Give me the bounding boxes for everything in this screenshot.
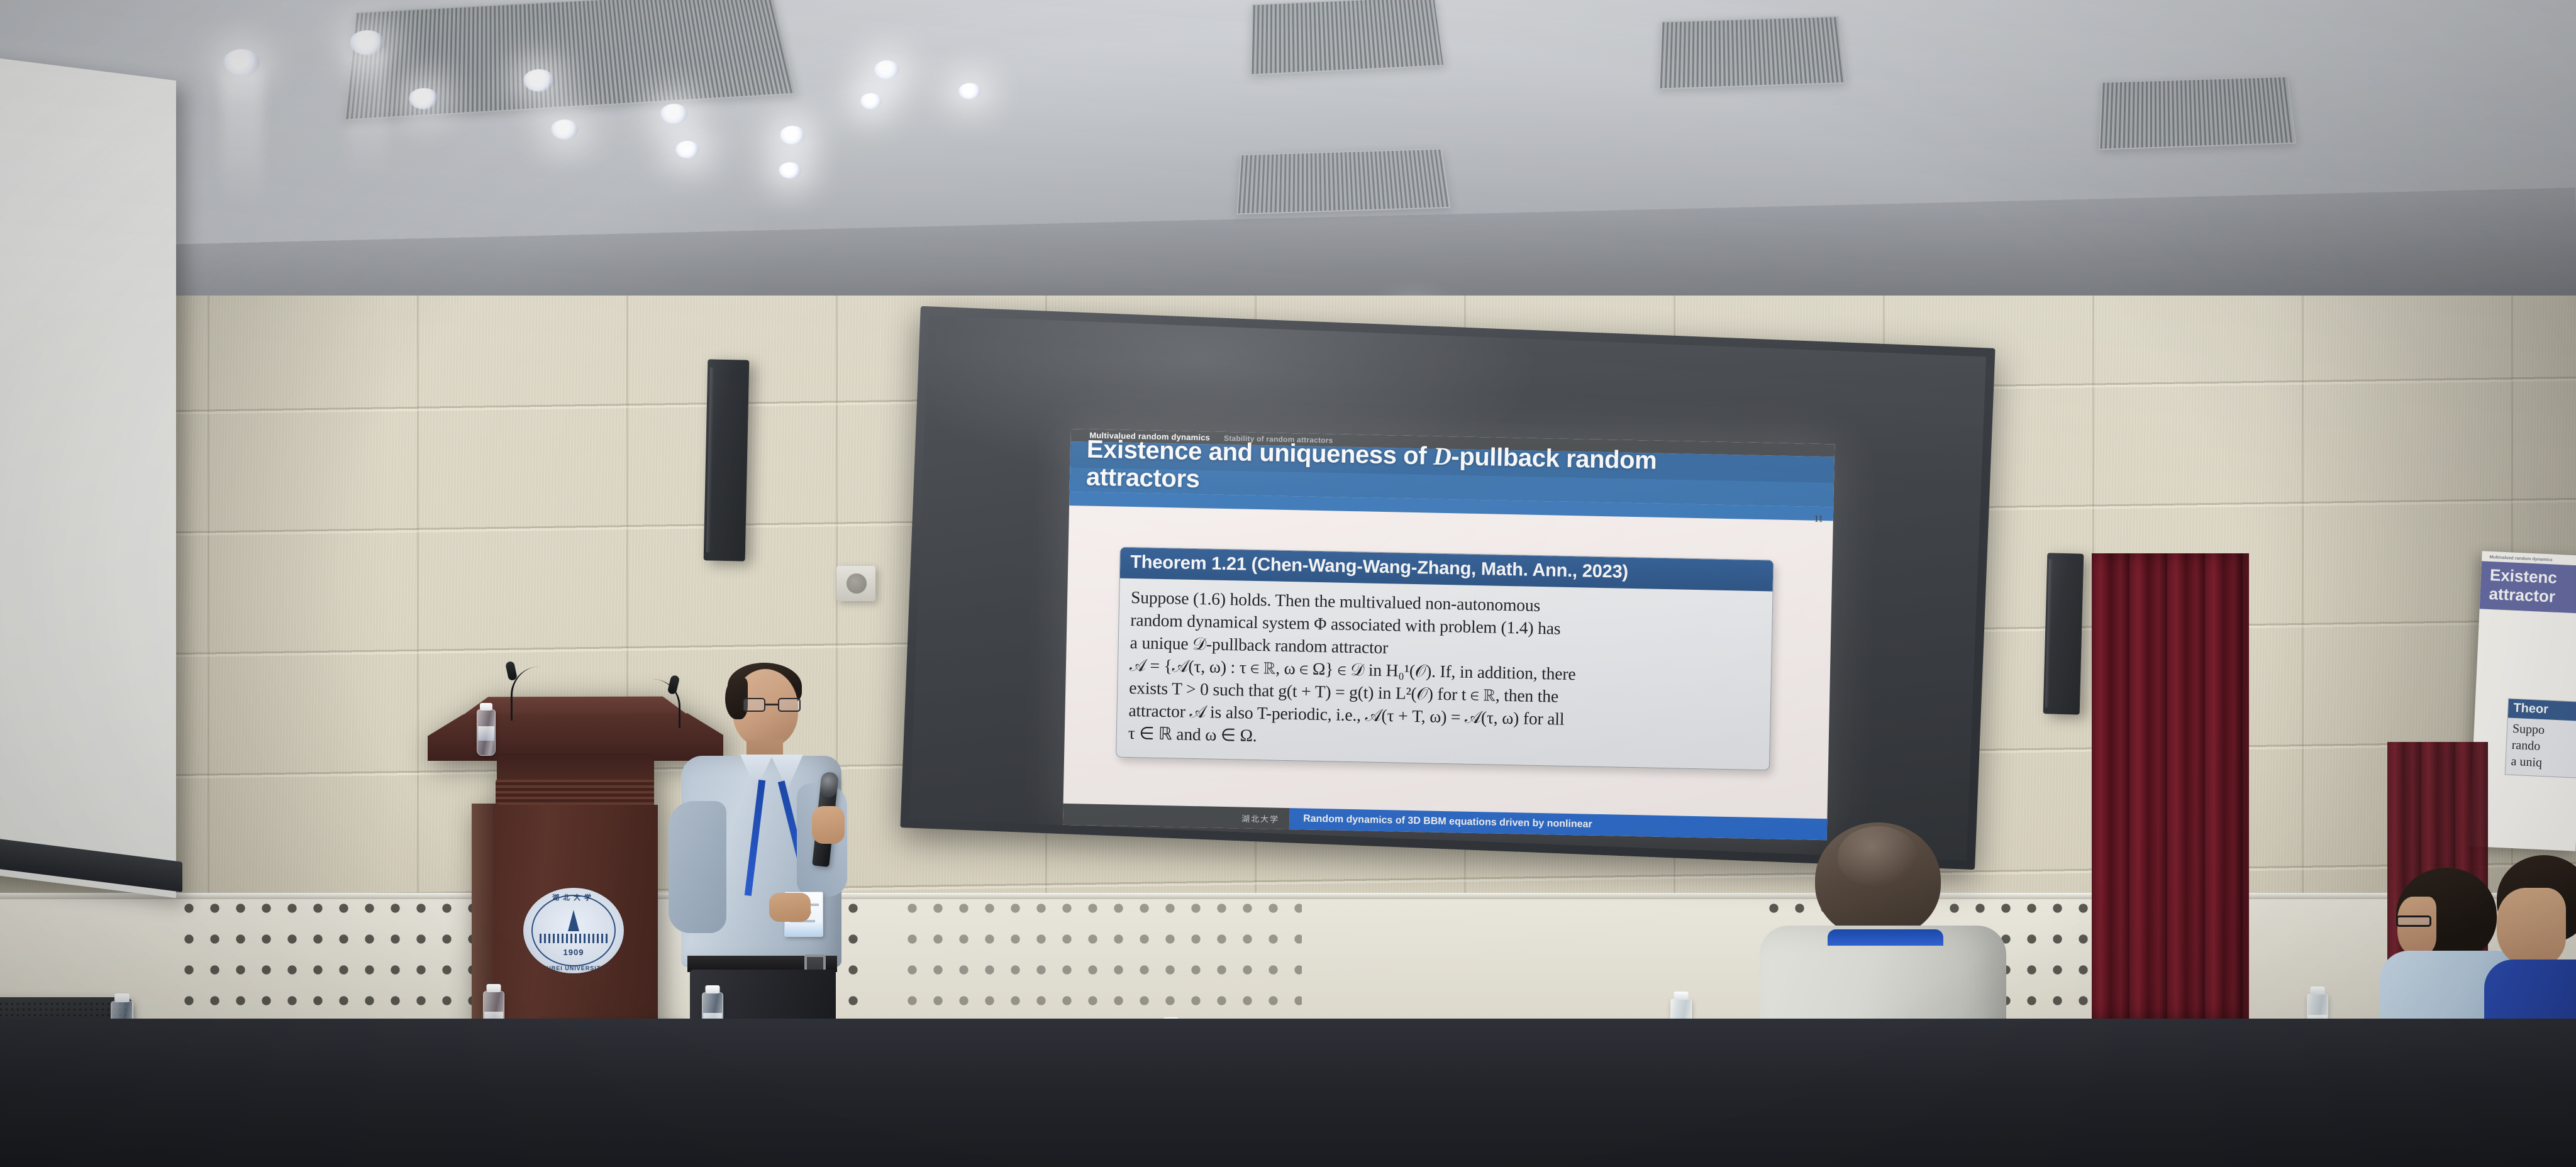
theorem-body: Suppose (1.6) holds. Then the multivalue… xyxy=(1116,578,1772,770)
university-emblem: 湖北大学 1909 HUBEI UNIVERSITY xyxy=(523,888,624,973)
column-speaker xyxy=(2043,553,2084,714)
slide-page-number: 11 xyxy=(1814,514,1823,525)
glasses-lens-right xyxy=(778,698,801,712)
bottle-cap xyxy=(1674,992,1689,1000)
emblem-tower-icon xyxy=(568,910,579,931)
projected-slide: Multivalued random dynamics Stability of… xyxy=(1063,429,1835,840)
bottle-cap xyxy=(706,985,720,993)
bottle-cap xyxy=(487,984,501,992)
ceiling-downlight xyxy=(874,60,899,79)
wall-speaker xyxy=(836,566,875,601)
emblem-english-name: HUBEI UNIVERSITY xyxy=(523,965,624,971)
secondary-theorem-box: Theor Suppo rando a uniq xyxy=(2505,699,2576,780)
bottle-cap xyxy=(114,993,130,1002)
secondary-slide-title: Existenc attractor xyxy=(2480,561,2576,614)
presenter xyxy=(663,660,865,1075)
secondary-title-line2: attractor xyxy=(2489,584,2556,606)
water-bottle xyxy=(477,709,496,756)
bottle-label xyxy=(478,726,494,741)
presenter-hand-right xyxy=(812,806,845,844)
lecture-hall-photo: Multivalued random dynamics Stability of… xyxy=(0,0,2576,1167)
hvac-vent xyxy=(2099,76,2296,150)
slide-title-part2: attractors xyxy=(1086,463,1200,494)
ceiling-downlight xyxy=(780,126,805,145)
screen-glare xyxy=(0,55,176,898)
audience-face xyxy=(2497,888,2566,966)
glasses-icon xyxy=(743,698,801,712)
secondary-title-line1: Existenc xyxy=(2489,565,2557,587)
secondary-theorem-line: a uniq xyxy=(2511,753,2576,775)
presenter-arm-left xyxy=(669,801,726,933)
script-d-symbol: D xyxy=(1433,442,1452,471)
ceiling-downlight xyxy=(409,88,439,109)
glasses-lens-left xyxy=(743,698,765,712)
ceiling-downlight xyxy=(675,141,699,158)
main-projection-screen: Multivalued random dynamics Stability of… xyxy=(900,306,1995,870)
hvac-vent xyxy=(1236,148,1450,214)
secondary-theorem-body: Suppo rando a uniq xyxy=(2506,718,2576,780)
column-speaker xyxy=(704,359,750,561)
ceiling-downlight xyxy=(860,93,882,109)
theorem-box: Theorem 1.21 (Chen-Wang-Wang-Zhang, Math… xyxy=(1116,547,1774,771)
hvac-vent xyxy=(1250,0,1445,75)
presenter-hand-left xyxy=(769,893,811,922)
left-projection-screen xyxy=(0,55,176,898)
ceiling-downlight xyxy=(523,69,555,92)
slide-title-part1-tail: -pullback random xyxy=(1451,443,1657,475)
bottle-cap xyxy=(480,703,492,711)
emblem-building-icon xyxy=(540,934,608,943)
stage-curtain xyxy=(2092,553,2249,1019)
floor xyxy=(0,1019,2576,1167)
audience-scalp-highlight xyxy=(1838,826,1918,887)
ceiling-downlight xyxy=(350,30,385,55)
podium-riser xyxy=(497,753,654,782)
ceiling-downlight xyxy=(660,104,688,124)
ceiling-downlight xyxy=(779,162,801,179)
ceiling-downlight xyxy=(958,83,981,99)
microphone-capsule xyxy=(819,772,839,799)
ceiling-downlight xyxy=(223,49,260,75)
audience-lanyard xyxy=(1828,929,1943,946)
institution-logo-text: 湖北大学 xyxy=(1241,812,1279,824)
glasses-icon xyxy=(2396,915,2431,927)
hvac-vent xyxy=(1659,16,1847,89)
screen-surface: Multivalued random dynamics Stability of… xyxy=(909,315,1986,860)
bottle-cap xyxy=(2311,987,2325,995)
slide-footer-left: 湖北大学 xyxy=(1063,804,1290,829)
emblem-founding-year: 1909 xyxy=(523,948,624,957)
emblem-chinese-name: 湖北大学 xyxy=(523,892,624,902)
glasses-bridge xyxy=(765,704,778,705)
podium-reeded-trim xyxy=(496,780,654,807)
ceiling-downlight xyxy=(551,119,579,140)
